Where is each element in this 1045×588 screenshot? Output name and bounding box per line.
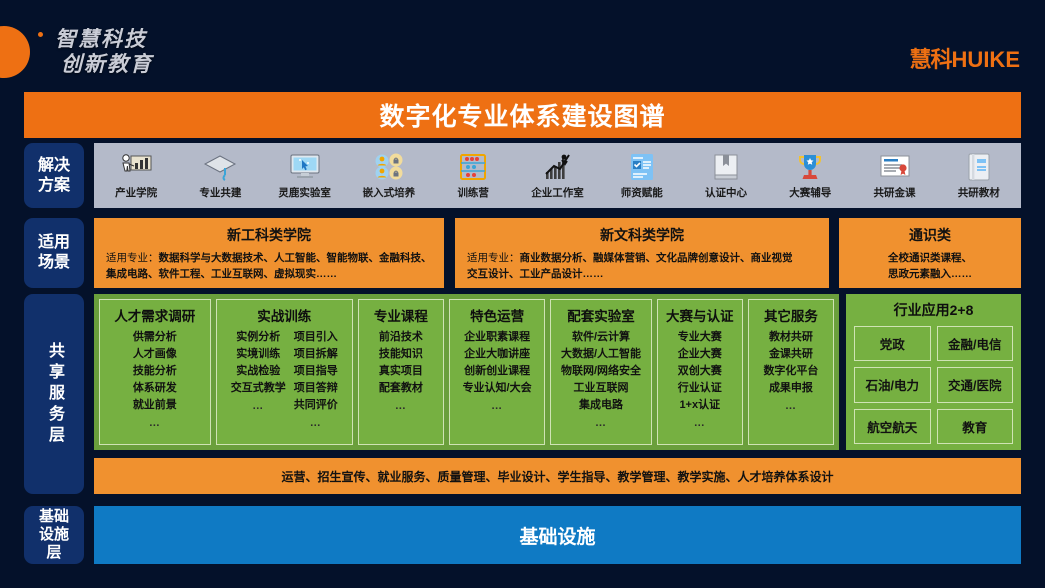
service-card-4[interactable]: 特色运营企业职素课程企业大咖讲座创新创业课程专业认知/大会… [449, 299, 545, 445]
service-card-item: 前沿技术 [379, 330, 423, 345]
service-card-item: 实战检验 [236, 364, 280, 379]
service-card-item: 数字化平台 [763, 364, 818, 379]
service-card-item: 人才画像 [133, 347, 177, 362]
industry-tile-3[interactable]: 石油/电力 [854, 367, 931, 402]
scenario-body: 适用专业：商业数据分析、融媒体营销、文化品牌创意设计、商业视觉 交互设计、工业产… [467, 250, 817, 282]
slogan-line-1: 智慧科技 [55, 27, 153, 52]
solution-item-label: 训练营 [457, 185, 489, 200]
service-card-item: 专业认知/大会 [463, 381, 532, 396]
scenario-title: 新文科类学院 [467, 225, 817, 245]
textbook-icon [962, 152, 996, 182]
shared-service-layer: 人才需求调研供需分析人才画像技能分析体系研发就业前景…实战训练实例分析实境训练实… [94, 294, 1021, 450]
service-card-title: 人才需求调研 [114, 305, 195, 325]
service-card-item: 1+x认证 [679, 398, 720, 413]
solution-item-2[interactable]: 专业共建 [178, 152, 262, 200]
page-title: 数字化专业体系建设图谱 [24, 92, 1021, 138]
service-card-item: 企业大赛 [678, 347, 722, 362]
service-card-item: 交互式教学 [231, 381, 286, 396]
rail-label-infra-l3: 层 [46, 544, 61, 561]
logo-text-cn: 慧科 [910, 47, 952, 72]
service-card-item: 项目指导 [294, 364, 338, 379]
service-card-item: … [694, 416, 706, 431]
rail-label-scenario: 适用场景 [24, 218, 84, 288]
scenario-body: 全校通识类课程、 思政元素融入…… [851, 250, 1009, 282]
solution-item-label: 大赛辅导 [789, 185, 831, 200]
solution-item-label: 师资赋能 [621, 185, 663, 200]
service-card-column: 实例分析实境训练实战检验交互式教学… [231, 330, 286, 441]
service-card-title: 其它服务 [764, 305, 818, 325]
service-card-item: 双创大赛 [678, 364, 722, 379]
service-card-item: 项目答辩 [294, 381, 338, 396]
service-card-item: 集成电路 [579, 398, 623, 413]
service-card-item: 项目拆解 [294, 347, 338, 362]
service-card-item: … [149, 416, 161, 431]
service-card-item: 金课共研 [769, 347, 813, 362]
solution-item-11[interactable]: 共研教材 [937, 152, 1021, 200]
scenario-line-2: 交互设计、工业产品设计…… [467, 268, 604, 280]
book-bookmark-icon [709, 152, 743, 182]
service-card-column: 专业大赛企业大赛双创大赛行业认证1+x认证… [678, 330, 722, 441]
service-card-item: … [785, 399, 797, 414]
scenario-line-1: 商业数据分析、融媒体营销、文化品牌创意设计、商业视觉 [520, 252, 793, 264]
industry-tile-6[interactable]: 教育 [937, 409, 1014, 444]
service-card-item: 技能分析 [133, 364, 177, 379]
service-card-3[interactable]: 专业课程前沿技术技能知识真实项目配套教材… [358, 299, 444, 445]
scenario-line-1: 全校通识类课程、 [888, 252, 972, 264]
logo-text-en: HUIKE [952, 47, 1020, 72]
service-card-column: 前沿技术技能知识真实项目配套教材… [379, 330, 423, 441]
operations-text: 运营、招生宣传、就业服务、质量管理、毕业设计、学生指导、教学管理、教学实施、人才… [281, 468, 833, 485]
service-card-item: 行业认证 [678, 381, 722, 396]
industry-tile-5[interactable]: 航空航天 [854, 409, 931, 444]
service-card-title: 专业课程 [374, 305, 428, 325]
service-card-item: 配套教材 [379, 381, 423, 396]
service-card-item: … [310, 416, 322, 431]
service-card-title: 大赛与认证 [666, 305, 734, 325]
service-card-item: 企业大咖讲座 [464, 347, 530, 362]
industry-tile-grid: 党政金融/电信石油/电力交通/医院航空航天教育 [854, 326, 1013, 444]
scenario-card-general-education[interactable]: 通识类 全校通识类课程、 思政元素融入…… [839, 218, 1021, 288]
rail-label-infra-l1: 基础 [39, 508, 69, 525]
service-card-5[interactable]: 配套实验室软件/云计算大数据/人工智能物联网/网络安全工业互联网集成电路… [550, 299, 651, 445]
service-card-item: 实境训练 [236, 347, 280, 362]
solution-item-7[interactable]: 师资赋能 [600, 152, 684, 200]
solution-item-label: 共研金课 [874, 185, 916, 200]
service-card-item: 软件/云计算 [572, 330, 630, 345]
service-card-column: 项目引入项目拆解项目指导项目答辩共同评价… [294, 330, 338, 441]
service-card-item: 技能知识 [379, 347, 423, 362]
service-card-item: 大数据/人工智能 [561, 347, 641, 362]
people-badge-icon [372, 152, 406, 182]
rail-label-solution-l2: 方案 [38, 177, 70, 194]
solutions-row: 产业学院专业共建灵鹿实验室嵌入式培养训练营企业工作室师资赋能认证中心大赛辅导共研… [94, 143, 1021, 208]
service-card-item: 物联网/网络安全 [561, 364, 641, 379]
service-card-item: 专业大赛 [678, 330, 722, 345]
infrastructure-bar: 基础设施 [94, 506, 1021, 564]
service-cards-container: 人才需求调研供需分析人才画像技能分析体系研发就业前景…实战训练实例分析实境训练实… [94, 294, 839, 450]
solution-item-8[interactable]: 认证中心 [684, 152, 768, 200]
certificate-icon [878, 152, 912, 182]
rail-label-solution: 解决方案 [24, 143, 84, 208]
growth-arrow-icon [540, 152, 574, 182]
service-card-title: 特色运营 [470, 305, 524, 325]
service-card-item: 成果申报 [769, 381, 813, 396]
scenario-body: 适用专业：数据科学与大数据技术、人工智能、智能物联、金融科技、 集成电路、软件工… [106, 250, 432, 282]
solution-item-label: 企业工作室 [531, 185, 584, 200]
industry-application-panel: 行业应用2+8 党政金融/电信石油/电力交通/医院航空航天教育 [846, 294, 1021, 450]
brand-slogan: 智慧科技 创新教育 [55, 27, 153, 77]
service-card-item: 工业互联网 [573, 381, 628, 396]
solution-item-1[interactable]: 产业学院 [94, 152, 178, 200]
solution-item-label: 产业学院 [115, 185, 157, 200]
service-card-item: 创新创业课程 [464, 364, 530, 379]
graduation-cap-icon [203, 152, 237, 182]
document-message-icon [625, 152, 659, 182]
rail-label-scenario-l2: 场景 [38, 254, 70, 271]
service-card-title: 实战训练 [257, 305, 311, 325]
service-card-item: … [491, 399, 503, 414]
solution-item-label: 灵鹿实验室 [278, 185, 331, 200]
service-card-item: 项目引入 [294, 330, 338, 345]
service-card-1[interactable]: 人才需求调研供需分析人才画像技能分析体系研发就业前景… [99, 299, 211, 445]
industry-tile-4[interactable]: 交通/医院 [937, 367, 1014, 402]
scenario-card-new-liberal-arts[interactable]: 新文科类学院 适用专业：商业数据分析、融媒体营销、文化品牌创意设计、商业视觉 交… [455, 218, 829, 288]
service-card-6[interactable]: 大赛与认证专业大赛企业大赛双创大赛行业认证1+x认证… [657, 299, 743, 445]
service-card-item: 共同评价 [294, 398, 338, 413]
industry-tile-1[interactable]: 党政 [854, 326, 931, 361]
service-card-item: 实例分析 [236, 330, 280, 345]
service-card-column: 教材共研金课共研数字化平台成果申报… [763, 330, 818, 441]
solution-item-label: 共研教材 [958, 185, 1000, 200]
rail-label-infra-l2: 设施 [39, 526, 69, 543]
scenario-lead: 适用专业： [467, 252, 520, 264]
solution-item-3[interactable]: 灵鹿实验室 [263, 152, 347, 200]
presenter-chart-icon [119, 152, 153, 182]
rail-label-shared-service-text: 共享服务层 [42, 342, 66, 447]
service-card-item: 教材共研 [769, 330, 813, 345]
scenario-line-1: 数据科学与大数据技术、人工智能、智能物联、金融科技、 [159, 252, 432, 264]
service-card-item: 体系研发 [133, 381, 177, 396]
scenario-line-2: 集成电路、软件工程、工业互联网、虚拟现实…… [106, 268, 337, 280]
scenario-title: 通识类 [851, 225, 1009, 245]
service-card-item: … [252, 399, 264, 414]
solution-item-label: 专业共建 [199, 185, 241, 200]
service-card-item: … [595, 416, 607, 431]
service-card-item: 企业职素课程 [464, 330, 530, 345]
page-title-text: 数字化专业体系建设图谱 [379, 97, 665, 133]
scenario-card-new-engineering[interactable]: 新工科类学院 适用专业：数据科学与大数据技术、人工智能、智能物联、金融科技、 集… [94, 218, 444, 288]
scenario-lead: 适用专业： [106, 252, 159, 264]
service-card-item: 供需分析 [133, 330, 177, 345]
service-card-7[interactable]: 其它服务教材共研金课共研数字化平台成果申报… [748, 299, 834, 445]
service-card-title: 配套实验室 [567, 305, 635, 325]
rail-label-shared-service: 共享服务层 [24, 294, 84, 494]
rail-label-scenario-l1: 适用 [38, 234, 70, 251]
scenario-line-2: 思政元素融入…… [888, 268, 972, 280]
decorative-dot [38, 32, 43, 37]
solution-item-4[interactable]: 嵌入式培养 [347, 152, 431, 200]
solution-item-5[interactable]: 训练营 [431, 152, 515, 200]
decorative-circle [0, 26, 30, 78]
service-card-2[interactable]: 实战训练实例分析实境训练实战检验交互式教学…项目引入项目拆解项目指导项目答辩共同… [216, 299, 353, 445]
industry-tile-2[interactable]: 金融/电信 [937, 326, 1014, 361]
abacus-icon [456, 152, 490, 182]
operations-bar: 运营、招生宣传、就业服务、质量管理、毕业设计、学生指导、教学管理、教学实施、人才… [94, 458, 1021, 494]
rail-label-infrastructure: 基础设施层 [24, 506, 84, 564]
solution-item-10[interactable]: 共研金课 [852, 152, 936, 200]
industry-panel-title: 行业应用2+8 [854, 300, 1013, 320]
company-logo: 慧科HUIKE [910, 42, 1020, 74]
infrastructure-text: 基础设施 [519, 522, 595, 549]
monitor-cursor-icon [288, 152, 322, 182]
scenario-title: 新工科类学院 [106, 225, 432, 245]
trophy-icon [793, 152, 827, 182]
page-header: 智慧科技 创新教育 慧科HUIKE [0, 0, 1045, 88]
solution-item-label: 认证中心 [705, 185, 747, 200]
service-card-item: … [395, 399, 407, 414]
solution-item-9[interactable]: 大赛辅导 [768, 152, 852, 200]
solution-item-label: 嵌入式培养 [363, 185, 416, 200]
service-card-column: 软件/云计算大数据/人工智能物联网/网络安全工业互联网集成电路… [561, 330, 641, 441]
slogan-line-2: 创新教育 [55, 52, 153, 77]
rail-label-solution-l1: 解决 [38, 157, 70, 174]
service-card-item: 真实项目 [379, 364, 423, 379]
service-card-column: 供需分析人才画像技能分析体系研发就业前景… [133, 330, 177, 441]
service-card-item: 就业前景 [133, 398, 177, 413]
service-card-column: 企业职素课程企业大咖讲座创新创业课程专业认知/大会… [463, 330, 532, 441]
solution-item-6[interactable]: 企业工作室 [515, 152, 599, 200]
